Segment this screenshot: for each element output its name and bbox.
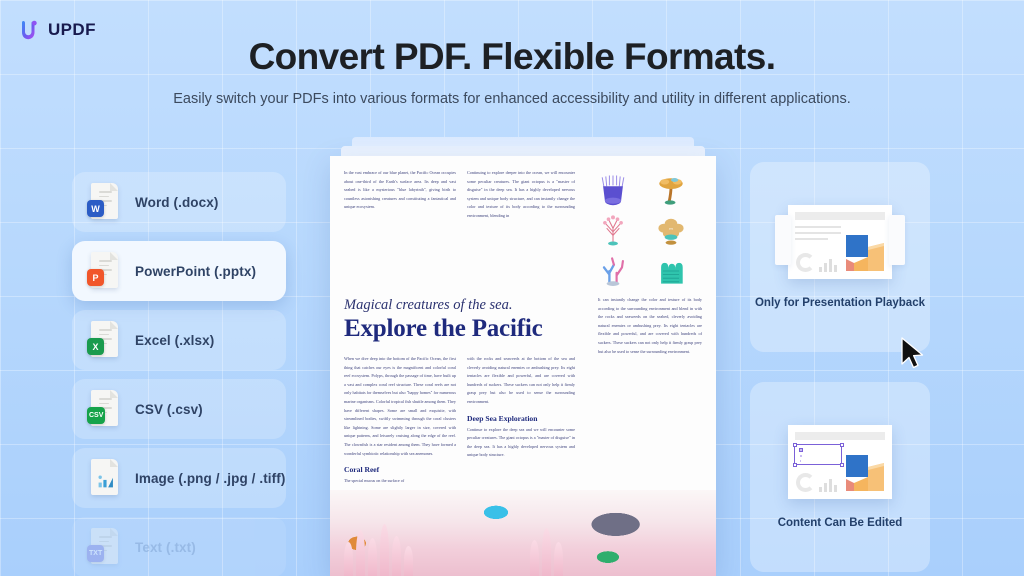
csv-file-icon: CSV [87,389,121,429]
teal-brain-coral-icon [644,253,698,289]
selection-handle-bottom-right[interactable] [840,463,844,467]
brown-coral-fan-icon [644,171,698,207]
doc-paragraph: Continue to explore the deep sea and we … [467,426,575,460]
powerpoint-badge: P [87,269,104,286]
doc-col-mid: Continuing to explore deeper into the oc… [467,169,575,289]
format-label: CSV (.csv) [135,402,203,417]
format-option-list: W Word (.docx) P PowerPoint (.pptx) X Ex… [72,172,286,576]
format-item-text[interactable]: TXT Text (.txt) [72,517,286,576]
creature-illustration-grid [586,169,698,289]
slide-title-bar [795,432,885,440]
document-page[interactable]: In the vast embrace of our blue planet, … [330,156,716,576]
doc-section-heading: Coral Reef [344,465,456,474]
format-label: PowerPoint (.pptx) [135,264,256,279]
slide-3d-chart [844,453,886,493]
format-label: Word (.docx) [135,195,218,210]
coral-reef-photo [330,490,716,576]
format-label: Text (.txt) [135,540,196,555]
page-title: Convert PDF. Flexible Formats. [0,36,1024,78]
format-item-excel[interactable]: X Excel (.xlsx) [72,310,286,370]
image-chart-glyph [95,473,116,490]
selected-text-lines [799,448,803,452]
page-stage: UPDF Convert PDF. Flexible Formats. Easi… [0,0,1024,576]
text-selection-box[interactable] [794,444,842,465]
slide-thumbnail-editable-icon [788,425,892,499]
format-label: Excel (.xlsx) [135,333,214,348]
excel-file-icon: X [87,320,121,360]
document-top-columns: In the vast embrace of our blue planet, … [330,156,716,289]
selection-handle-top-left[interactable] [793,443,797,447]
selection-handle-bottom-left[interactable] [793,463,797,467]
slide-title-bar [795,212,885,220]
slide-bar-chart [819,479,837,492]
pink-sea-fan-icon [586,212,640,248]
doc-paragraph: Continuing to explore deeper into the oc… [467,169,575,221]
slide-text-lines [795,226,841,244]
slide-peek-left [775,215,791,265]
slide-donut-chart [796,473,815,492]
doc-col-left: In the vast embrace of our blue planet, … [344,169,456,289]
card-presentation-playback[interactable]: Only for Presentation Playback [750,162,930,352]
text-badge: TXT [87,545,104,562]
doc-lower-left: When we dive deep into the bottom of the… [344,355,456,486]
text-file-icon: TXT [87,527,121,567]
doc-paragraph: In the vast embrace of our blue planet, … [344,169,456,212]
csv-badge: CSV [87,407,105,424]
format-item-csv[interactable]: CSV CSV (.csv) [72,379,286,439]
card-label: Only for Presentation Playback [755,297,925,309]
format-item-image[interactable]: Image (.png / .jpg / .tiff) [72,448,286,508]
card-label: Content Can Be Edited [778,517,903,529]
word-file-icon: W [87,182,121,222]
doc-paragraph: The special mucus on the surface of [344,477,456,486]
format-item-powerpoint[interactable]: P PowerPoint (.pptx) [72,241,286,301]
slide-3d-chart [844,233,886,273]
doc-paragraph: It can instantly change the color and te… [598,296,702,356]
doc-paragraph: with the rocks and seaweeds at the botto… [467,355,575,407]
slide-thumbnail-icon [788,205,892,279]
slide-donut-chart [796,253,815,272]
excel-badge: X [87,338,104,355]
document-lower-columns: When we dive deep into the bottom of the… [330,343,716,486]
tan-mushroom-coral-icon [644,212,698,248]
card-content-editable[interactable]: Content Can Be Edited [750,382,930,572]
slide-bar-chart [819,259,837,272]
page-subtitle: Easily switch your PDFs into various for… [0,91,1024,107]
selection-handle-top-right[interactable] [840,443,844,447]
powerpoint-file-icon: P [87,251,121,291]
doc-right-column: It can instantly change the color and te… [598,296,702,356]
doc-paragraph: When we dive deep into the bottom of the… [344,355,456,458]
sea-anemone-purple-icon [586,171,640,207]
slide-peek-right [889,215,905,265]
blue-pink-staghorn-icon [586,253,640,289]
doc-section-heading: Deep Sea Exploration [467,414,575,423]
word-badge: W [87,200,104,217]
format-item-word[interactable]: W Word (.docx) [72,172,286,232]
image-file-icon [87,458,121,498]
doc-lower-mid: with the rocks and seaweeds at the botto… [467,355,575,486]
format-label: Image (.png / .jpg / .tiff) [135,471,285,486]
